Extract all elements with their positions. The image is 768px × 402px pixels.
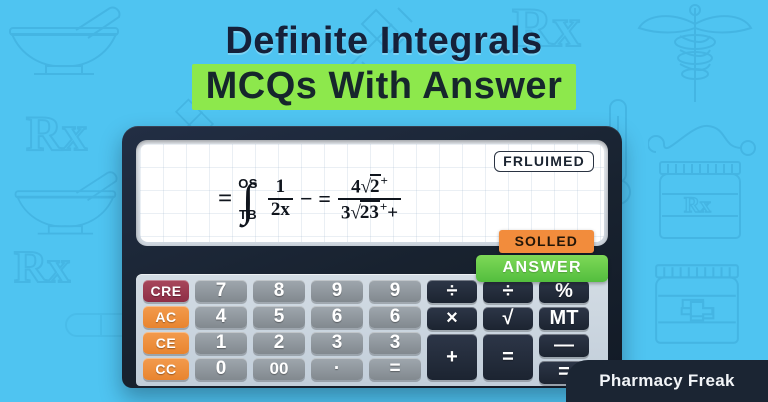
key-equals[interactable]: =	[483, 334, 533, 380]
key-3-alt[interactable]: 3	[369, 332, 421, 354]
title-line-1: Definite Integrals	[0, 22, 768, 61]
integral-with-limits: OS ∫ TB	[238, 177, 258, 221]
svg-text:Rx: Rx	[684, 192, 711, 217]
footer-brand-label: Pharmacy Freak	[599, 371, 735, 391]
mortar-pestle-icon	[10, 168, 130, 242]
key-minus[interactable]: —	[539, 334, 589, 357]
result-numerator-radicand: 2	[370, 174, 381, 197]
footer-brand-banner: Pharmacy Freak	[566, 360, 768, 402]
key-equals-alt[interactable]: =	[369, 358, 421, 380]
key-plus[interactable]: +	[427, 334, 477, 380]
key-double-zero[interactable]: 00	[253, 358, 305, 380]
key-ce[interactable]: CE	[143, 332, 189, 354]
result-denominator: 3√23++	[338, 198, 401, 224]
calculator-display-bezel: FRLUIMED = OS ∫ TB 1 2x − = 4√2+ 3√23++	[136, 140, 608, 246]
page-title: Definite Integrals MCQs With Answer	[0, 22, 768, 110]
key-ac[interactable]: AC	[143, 306, 189, 328]
key-5[interactable]: 5	[253, 306, 305, 328]
stethoscope-icon	[648, 118, 764, 162]
key-2[interactable]: 2	[253, 332, 305, 354]
key-7[interactable]: 7	[195, 280, 247, 302]
result-denominator-trailing: +	[387, 202, 398, 223]
key-9[interactable]: 9	[311, 280, 363, 302]
key-0[interactable]: 0	[195, 358, 247, 380]
result-numerator-superscript: +	[381, 173, 388, 188]
key-6[interactable]: 6	[311, 306, 363, 328]
key-divide[interactable]: ÷	[427, 280, 477, 303]
integrand-denominator: 2x	[268, 198, 293, 221]
result-numerator: 4√2+	[348, 174, 391, 198]
key-6-alt[interactable]: 6	[369, 306, 421, 328]
integral-lower-limit: TB	[239, 208, 257, 221]
keypad-number-column-2: 8 5 2 00	[253, 280, 305, 380]
key-8[interactable]: 8	[253, 280, 305, 302]
keypad-function-column: CRE AC CE CC	[143, 280, 189, 380]
keypad-number-column-4: 9 6 3 =	[369, 280, 421, 380]
key-cre[interactable]: CRE	[143, 280, 189, 302]
pill-bottle-cross-icon	[650, 262, 744, 346]
result-numerator-coefficient: 4	[351, 176, 361, 197]
answer-button[interactable]: ANSWER	[476, 255, 608, 282]
key-mt[interactable]: MT	[539, 307, 589, 330]
keypad-number-column-3: 9 6 3 ·	[311, 280, 363, 380]
solved-badge: SOLLED	[499, 230, 594, 253]
calculator-display-screen: FRLUIMED = OS ∫ TB 1 2x − = 4√2+ 3√23++	[140, 144, 604, 242]
integral-formula: = OS ∫ TB 1 2x − = 4√2+ 3√23++	[218, 174, 405, 224]
key-cc[interactable]: CC	[143, 358, 189, 380]
keypad-operator-column-1: ÷ × +	[427, 280, 477, 380]
key-9-alt[interactable]: 9	[369, 280, 421, 302]
key-3[interactable]: 3	[311, 332, 363, 354]
integrand-numerator: 1	[273, 177, 289, 198]
key-divide-alt[interactable]: ÷	[483, 280, 533, 303]
keypad-operator-column-2: ÷ √ =	[483, 280, 533, 380]
display-brand-chip: FRLUIMED	[494, 151, 594, 172]
result-denominator-coefficient: 3	[341, 202, 351, 223]
result-denominator-radicand: 23	[360, 200, 380, 223]
key-4[interactable]: 4	[195, 306, 247, 328]
key-1[interactable]: 1	[195, 332, 247, 354]
formula-middle-operator: −	[300, 186, 313, 212]
rx-icon: Rx	[26, 104, 87, 162]
calculator-keypad: CRE AC CE CC 7 4 1 0 8 5 2 00 9 6 3 · 9	[136, 274, 608, 386]
key-decimal[interactable]: ·	[311, 358, 363, 380]
title-line-2-highlighted: MCQs With Answer	[192, 64, 577, 110]
key-multiply[interactable]: ×	[427, 307, 477, 330]
integrand-fraction: 1 2x	[268, 177, 293, 220]
result-fraction: 4√2+ 3√23++	[338, 174, 401, 224]
keypad-number-column-1: 7 4 1 0	[195, 280, 247, 380]
formula-result-equals: =	[318, 186, 331, 212]
rx-icon: Rx	[14, 240, 70, 293]
formula-leading-equals: =	[218, 185, 232, 213]
calculator-graphic: FRLUIMED = OS ∫ TB 1 2x − = 4√2+ 3√23++	[122, 126, 622, 388]
key-square-root[interactable]: √	[483, 307, 533, 330]
key-percent[interactable]: %	[539, 280, 589, 303]
pill-bottle-rx-icon: Rx	[654, 160, 746, 240]
